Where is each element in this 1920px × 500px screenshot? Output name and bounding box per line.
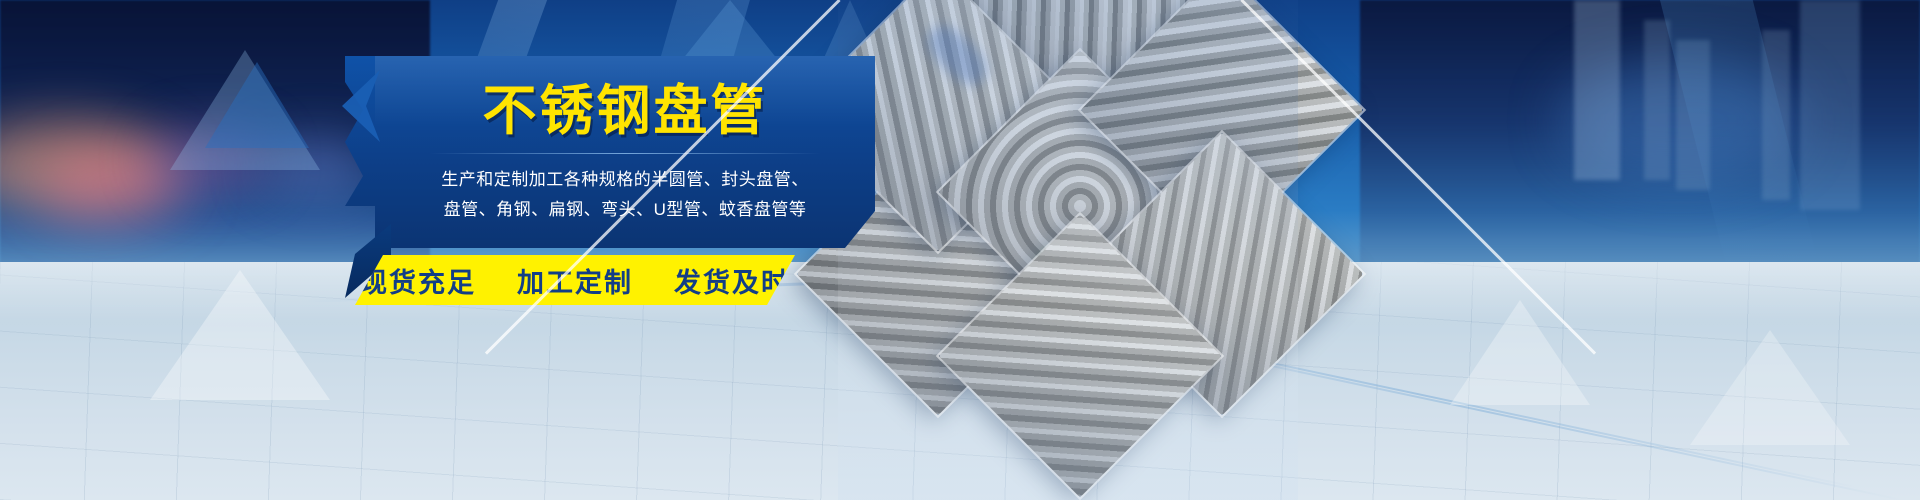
tower-1 [1574, 0, 1620, 180]
product-banner: 不锈钢盘管 生产和定制加工各种规格的半圆管、封头盘管、 盘管、角钢、扁钢、弯头、… [0, 0, 1920, 500]
slogan-item-3: 发货及时 [674, 268, 790, 298]
triangle-decor-dark [205, 62, 309, 148]
slogan-item-2: 加工定制 [517, 268, 633, 298]
triangle-decor-ground-right [1690, 330, 1850, 445]
slogan-item-1: 现货充足 [360, 268, 476, 298]
triangle-decor-ground-mid [1450, 300, 1590, 405]
subtitle-line-2: 盘管、角钢、扁钢、弯头、U型管、蚊香盘管等 [444, 195, 807, 225]
tower-4 [1800, 0, 1860, 210]
banner-text-block: 不锈钢盘管 生产和定制加工各种规格的半圆管、封头盘管、 盘管、角钢、扁钢、弯头、… [345, 56, 875, 248]
product-photo-cluster [838, 0, 1278, 500]
subtitle-line-1: 生产和定制加工各种规格的半圆管、封头盘管、 [441, 165, 809, 195]
triangle-decor-ground-left [150, 270, 330, 400]
title-divider [430, 153, 820, 154]
tower-2 [1644, 20, 1670, 180]
headline-ribbon: 不锈钢盘管 生产和定制加工各种规格的半圆管、封头盘管、 盘管、角钢、扁钢、弯头、… [345, 56, 875, 248]
